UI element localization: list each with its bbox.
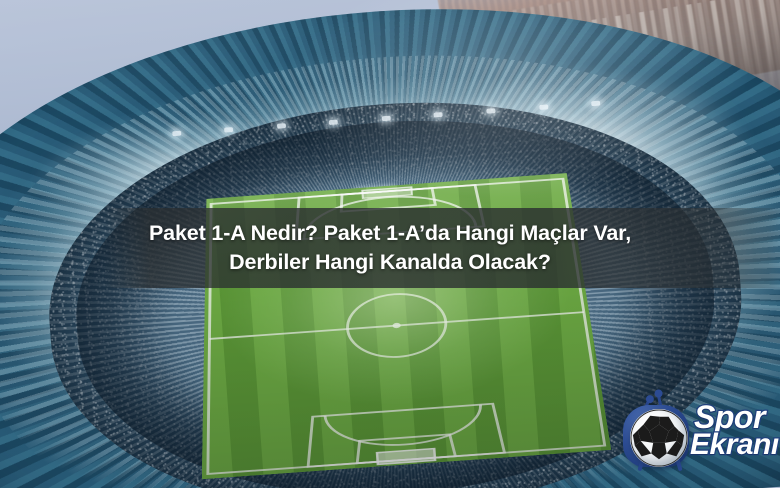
title-line-2: Derbiler Hangi Kanalda Olacak?: [70, 248, 710, 277]
page-title: Paket 1-A Nedir? Paket 1-A’da Hangi Maçl…: [70, 219, 710, 277]
tv-icon: [618, 391, 696, 469]
logo-wordmark: Spor Ekranı: [690, 401, 779, 460]
title-overlay-band: Paket 1-A Nedir? Paket 1-A’da Hangi Maçl…: [0, 208, 780, 288]
soccer-ball-icon: [630, 409, 688, 467]
hero-banner: Paket 1-A Nedir? Paket 1-A’da Hangi Maçl…: [0, 0, 780, 488]
logo-word-ekrani: Ekranı: [690, 430, 779, 460]
title-line-1: Paket 1-A Nedir? Paket 1-A’da Hangi Maçl…: [149, 221, 631, 245]
site-logo[interactable]: Spor Ekranı: [618, 378, 780, 482]
soccer-ball-pattern-icon: [630, 409, 688, 467]
